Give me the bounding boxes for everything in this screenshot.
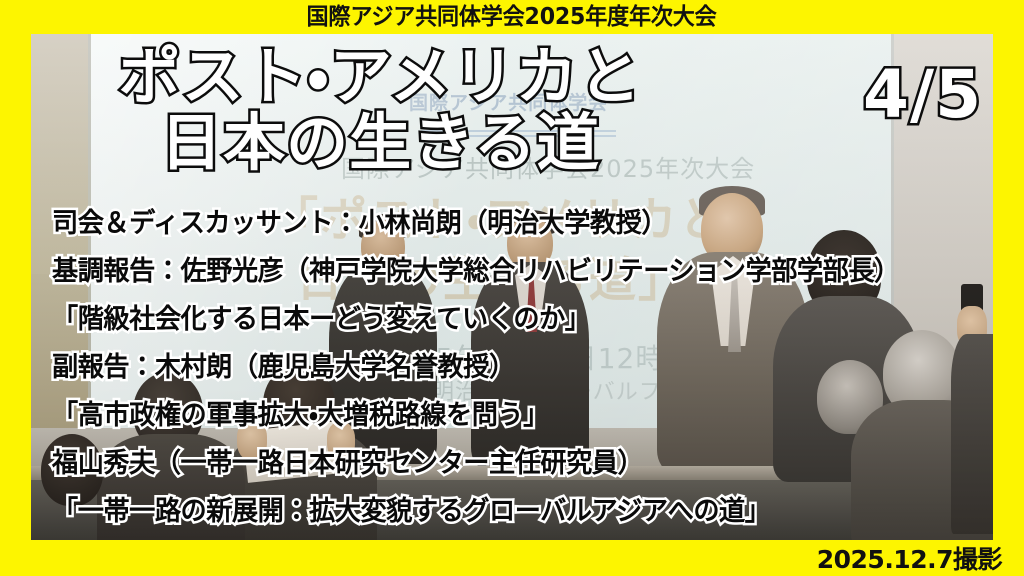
headline-line-1: ポスト・アメリカと (0, 44, 760, 110)
program-line-keynote-speaker: 基調報告：佐野光彦（神戸学院大学総合リハビリテーション学部学部長） (52, 258, 964, 285)
program-line-speaker-3-title: 「一帯一路の新展開：拡大変貌するグローバルアジアへの道」 (52, 498, 964, 525)
program-line-subreport-title: 「高市政権の軍事拡大・大増税路線を問う」 (52, 402, 964, 429)
conference-title: 国際アジア共同体学会2025年度年次大会 (307, 6, 717, 29)
program-line-keynote-title: 「階級社会化する日本ーどう変えていくのか」 (52, 306, 964, 333)
program-list: 司会＆ディスカッサント：小林尚朗（明治大学教授） 基調報告：佐野光彦（神戸学院大… (52, 210, 992, 525)
page-indicator: 4/5 (863, 62, 982, 128)
photo-credit: 2025.12.7撮影 (817, 545, 1002, 575)
top-banner: 国際アジア共同体学会2025年度年次大会 (0, 0, 1024, 34)
program-line-speaker-3: 福山秀夫（一帯一路日本研究センター主任研究員） (52, 450, 964, 477)
program-line-moderator: 司会＆ディスカッサント：小林尚朗（明治大学教授） (52, 210, 964, 237)
slide-card: 国際アジア共同体学会 国際アジア共同体学会2025年次大会 「ポスト・アメリカと… (0, 0, 1024, 576)
headline-block: ポスト・アメリカと 日本の生きる道 (0, 44, 760, 177)
headline-line-2: 日本の生きる道 (0, 110, 760, 176)
program-line-subreport-speaker: 副報告：木村朗（鹿児島大学名誉教授） (52, 354, 964, 381)
